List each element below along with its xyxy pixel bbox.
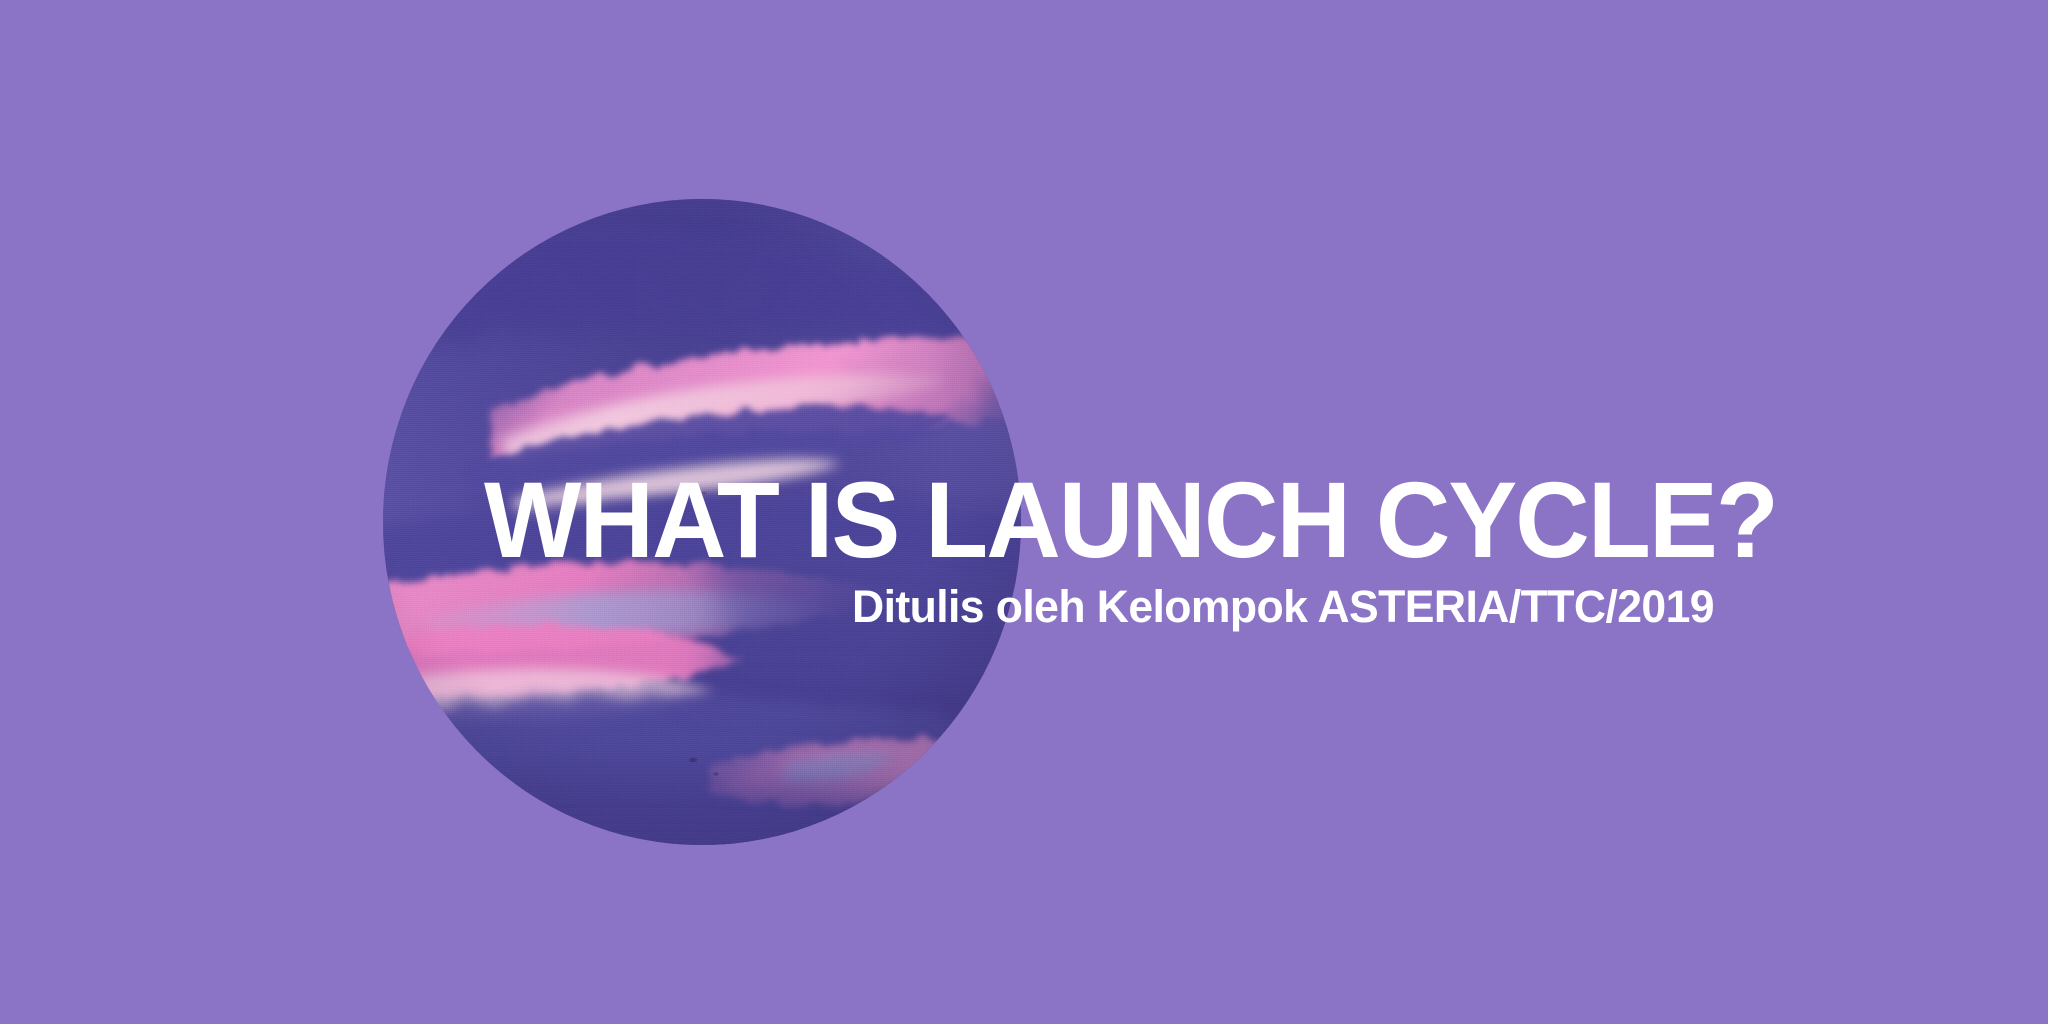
poster-canvas: WHAT IS LAUNCH CYCLE? Ditulis oleh Kelom… xyxy=(0,0,2048,1024)
byline-subtitle: Ditulis oleh Kelompok ASTERIA/TTC/2019 xyxy=(852,584,1714,629)
page-title: WHAT IS LAUNCH CYCLE? xyxy=(484,466,1777,574)
